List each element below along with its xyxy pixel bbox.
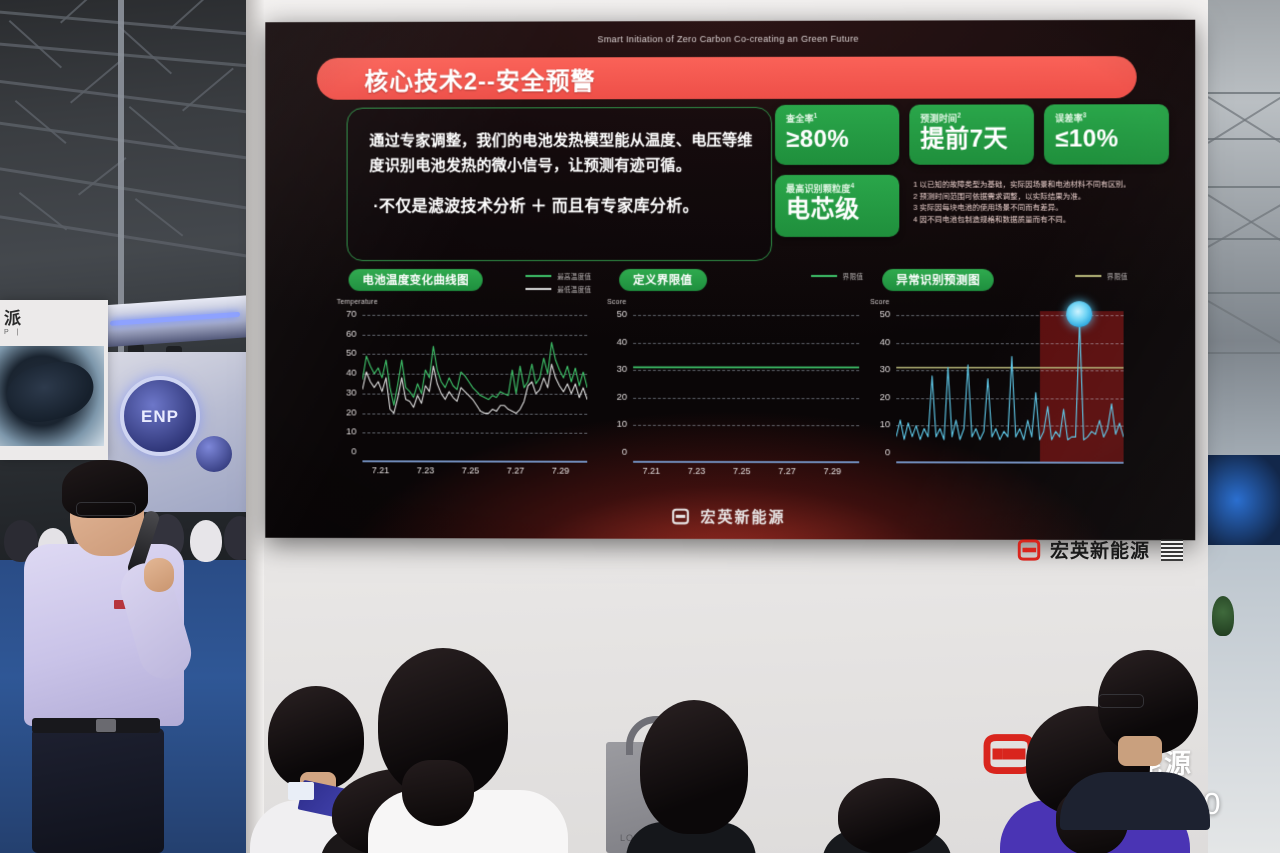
legend-label: 最高温度值 (557, 271, 591, 281)
chart-legend: 界限值 (811, 271, 864, 284)
audience-id-badge (288, 782, 314, 800)
plant-decor (1212, 596, 1234, 636)
slide-bullet: ·不仅是滤波技术分析 ＋ 而且有专家库分析。 (373, 192, 764, 216)
exhibition-hall-right-background (1208, 0, 1280, 853)
chart-y-tick: 50 (870, 309, 890, 320)
legend-swatch-threshold (1075, 275, 1101, 277)
chart-title-chip: 定义界限值 (619, 269, 706, 291)
metric-card-granularity: 最高识别颗粒度4 电芯级 (775, 175, 899, 237)
chart-y-tick: 70 (337, 309, 357, 320)
chart-y-tick: 20 (607, 392, 627, 403)
chart-y-tick: 0 (337, 446, 357, 457)
chart-plot-area: 01020304050 (870, 311, 1127, 464)
chart-y-tick: 20 (870, 392, 890, 403)
chart-y-axis-title: Temperature (337, 299, 378, 306)
chart-x-tick: 7.29 (823, 466, 841, 476)
chart-title-chip: 异常识别预测图 (882, 269, 994, 291)
slide-text-box: 通过专家调整，我们的电池发热模型能从温度、电压等维度识别电池发热的微小信号，让预… (347, 107, 772, 261)
chart-defined-threshold: 定义界限值 界限值 Score 010203040507.217.237.257… (605, 269, 865, 481)
slide-footer-brand: 宏英新能源 (700, 506, 785, 527)
legend-swatch-min (525, 288, 551, 290)
metric-card-label: 最高识别颗粒度4 (786, 182, 899, 195)
booth-canopy (100, 294, 260, 347)
presenter (18, 466, 233, 853)
metric-card-label: 误差率3 (1055, 111, 1169, 124)
legend-label: 界限值 (1107, 271, 1128, 281)
chart-y-tick: 10 (870, 420, 890, 431)
chart-x-tick: 7.27 (778, 466, 796, 476)
chart-y-axis-title: Score (870, 299, 889, 306)
booth-poster-image (0, 346, 104, 446)
chart-line-异常分值 (896, 321, 1123, 440)
metric-cards: 查全率1 ≥80% 预测时间2 提前7天 误差率3 ≤10% 最高识别颗粒度4 … (775, 104, 1179, 257)
legend-swatch-threshold (811, 275, 837, 277)
metric-card-value: 电芯级 (786, 196, 899, 224)
wall-left-edge (246, 0, 264, 853)
metric-card-value: 提前7天 (920, 126, 1034, 154)
chart-series-svg (362, 311, 587, 461)
chart-series-svg (633, 311, 859, 461)
chart-y-axis-title: Score (607, 299, 626, 306)
legend-label: 界限值 (843, 271, 863, 281)
chart-x-axis (633, 461, 859, 463)
qr-code-icon (1161, 539, 1183, 561)
metric-card-error-rate: 误差率3 ≤10% (1044, 104, 1169, 164)
slide-title: 核心技术2--安全预警 (364, 61, 595, 96)
metric-card-value: ≥80% (786, 126, 899, 154)
chart-title-chip: 电池温度变化曲线图 (349, 269, 483, 291)
metric-card-recall: 查全率1 ≥80% (775, 105, 899, 165)
chart-y-tick: 40 (607, 337, 627, 348)
chart-legend: 最高温度值 最低温度值 (525, 271, 591, 297)
slide-paragraph: 通过专家调整，我们的电池发热模型能从温度、电压等维度识别电池发热的微小信号，让预… (369, 128, 760, 178)
legend-swatch-max (525, 275, 551, 277)
chart-y-tick: 60 (337, 329, 357, 340)
chart-battery-temperature: 电池温度变化曲线图 最高温度值 最低温度值 Temperature 010203… (335, 269, 594, 481)
chart-legend: 界限值 (1075, 271, 1128, 284)
chart-y-tick: 10 (337, 427, 357, 438)
metric-card-label: 查全率1 (786, 112, 899, 125)
chart-x-tick: 7.25 (462, 465, 479, 475)
legend-label: 最低温度值 (557, 284, 591, 294)
chart-x-tick: 7.27 (507, 466, 524, 476)
slide-footnotes: 1 以已知的故障类型为基础，实际因场景和电池材料不同有区别。 2 预测时间范围可… (913, 179, 1177, 226)
chart-x-axis (896, 462, 1123, 464)
slide-footer: 宏英新能源 (265, 505, 1195, 528)
chart-y-tick: 40 (870, 337, 890, 348)
chart-x-tick: 7.23 (688, 466, 706, 476)
booth-poster-title: 派 P | (4, 304, 22, 336)
chart-y-tick: 50 (337, 348, 357, 359)
presentation-screen[interactable]: Smart Initiation of Zero Carbon Co-creat… (265, 20, 1195, 541)
chart-series-svg (896, 311, 1123, 462)
chart-y-tick: 20 (337, 407, 357, 418)
slide-title-banner: 核心技术2--安全预警 (317, 56, 1137, 100)
wall-brand-name: 宏英新能源 (1050, 536, 1150, 563)
chart-anomaly-prediction: 异常识别预测图 界限值 Score 01020304050 (868, 269, 1129, 482)
chart-y-tick: 30 (870, 364, 890, 375)
chart-line-最高温度值 (362, 342, 587, 405)
metric-card-value: ≤10% (1055, 125, 1169, 153)
presenter-glasses (76, 502, 136, 516)
footnote-item: 2 预测时间范围可依据需求调整，以实际结果为准。 (913, 190, 1177, 202)
anomaly-marker-icon (1067, 301, 1093, 327)
hongying-logo-mark-icon (1016, 537, 1042, 563)
booth-poster-subtitle: P | (4, 329, 22, 336)
chart-y-tick: 50 (607, 309, 627, 320)
chart-x-tick: 7.29 (552, 466, 569, 476)
chart-x-axis (362, 461, 587, 463)
chart-y-tick: 40 (337, 368, 357, 379)
chart-y-tick: 10 (607, 419, 627, 430)
hongying-logo-mark-icon (671, 506, 692, 527)
chart-line-最低温度值 (362, 364, 587, 413)
slide-subtitle: Smart Initiation of Zero Carbon Co-creat… (265, 33, 1195, 45)
presenter-trousers (32, 728, 164, 853)
exhibition-photo: ENP 派 P | (0, 0, 1280, 853)
chart-y-tick: 0 (607, 447, 627, 458)
metric-card-label: 预测时间2 (920, 111, 1034, 124)
chart-x-tick: 7.25 (733, 466, 751, 476)
chart-y-tick: 30 (337, 387, 357, 398)
presenter-belt-buckle (96, 719, 116, 732)
chart-y-tick: 30 (607, 364, 627, 375)
chart-x-tick: 7.23 (417, 465, 434, 475)
booth-poster-panel: 派 P | (0, 300, 108, 460)
chart-x-tick: 7.21 (372, 465, 389, 475)
chart-plot-area: 010203040507.217.237.257.277.29 (607, 311, 863, 463)
footnote-item: 1 以已知的故障类型为基础，实际因场景和电池材料不同有区别。 (913, 179, 1177, 191)
booth-screen-right (1208, 455, 1280, 545)
presenter-hand (144, 558, 174, 592)
slide: Smart Initiation of Zero Carbon Co-creat… (265, 20, 1195, 541)
wall-brand-logo: 宏英新能源 (1016, 536, 1183, 563)
footnote-item: 4 因不同电池包制造规格和数据质量而有不同。 (913, 213, 1177, 225)
enp-logo: ENP (120, 376, 200, 456)
enp-logo-text: ENP (141, 408, 179, 425)
metric-card-prediction-time: 预测时间2 提前7天 (909, 104, 1034, 164)
chart-x-tick: 7.21 (643, 466, 661, 476)
chart-plot-area: 0102030405060707.217.237.257.277.29 (337, 311, 592, 463)
charts-row: 电池温度变化曲线图 最高温度值 最低温度值 Temperature 010203… (335, 269, 1135, 482)
chart-y-tick: 0 (870, 447, 890, 458)
footnote-item: 3 实际因每块电池的使用场景不同而有差异。 (913, 202, 1177, 214)
